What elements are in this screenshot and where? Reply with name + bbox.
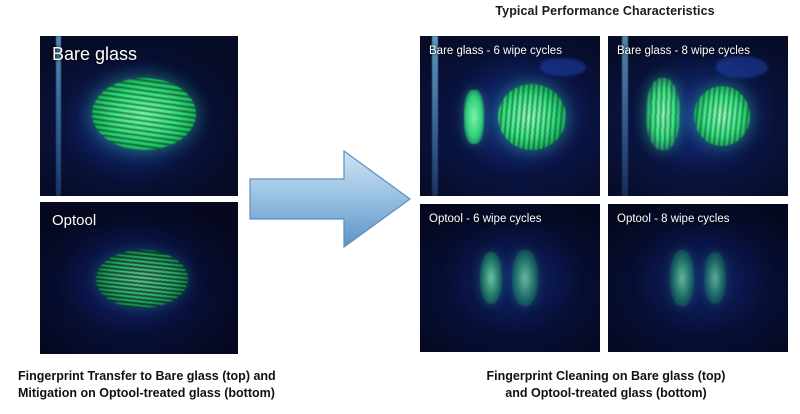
photo-label-bare-glass-6: Bare glass - 6 wipe cycles [429,45,562,57]
glass-edge-streak [622,36,628,196]
background-smear [540,58,586,76]
photo-bare-glass-8-wipe-cycles: Bare glass - 8 wipe cycles [608,36,788,196]
page-title: Typical Performance Characteristics [420,4,790,18]
photo-bare-glass: Bare glass [40,36,238,196]
fingerprint-residue [480,252,502,304]
panel-glow [634,220,770,332]
photo-label-optool: Optool [52,212,96,229]
caption-right-line1: Fingerprint Cleaning on Bare glass (top) [420,368,792,385]
caption-right-line2: and Optool-treated glass (bottom) [420,385,792,402]
fingerprint-residue [670,250,694,306]
fingerprint-residue [512,250,538,306]
photo-optool-6-wipe-cycles: Optool - 6 wipe cycles [420,204,600,352]
fingerprint-blob [498,84,566,150]
photo-optool: Optool [40,202,238,354]
caption-left: Fingerprint Transfer to Bare glass (top)… [18,368,308,402]
photo-label-bare-glass-8: Bare glass - 8 wipe cycles [617,45,750,57]
fingerprint-residue [704,252,726,304]
fingerprint-residue [464,90,484,144]
fingerprint-blob [694,86,750,146]
diagram-canvas: Typical Performance Characteristics Bare… [0,0,800,414]
photo-bare-glass-6-wipe-cycles: Bare glass - 6 wipe cycles [420,36,600,196]
caption-right: Fingerprint Cleaning on Bare glass (top)… [420,368,792,402]
background-smear [716,56,768,78]
right-arrow [248,145,412,253]
fingerprint-blob [96,250,188,308]
photo-label-optool-6: Optool - 6 wipe cycles [429,213,542,225]
photo-optool-8-wipe-cycles: Optool - 8 wipe cycles [608,204,788,352]
photo-label-optool-8: Optool - 8 wipe cycles [617,213,730,225]
fingerprint-residue [646,78,680,150]
fingerprint-halo [88,72,200,156]
photo-label-bare-glass: Bare glass [52,44,137,65]
caption-left-line2: Mitigation on Optool-treated glass (bott… [18,385,308,402]
glass-edge-streak [432,36,438,196]
caption-left-line1: Fingerprint Transfer to Bare glass (top)… [18,368,308,385]
